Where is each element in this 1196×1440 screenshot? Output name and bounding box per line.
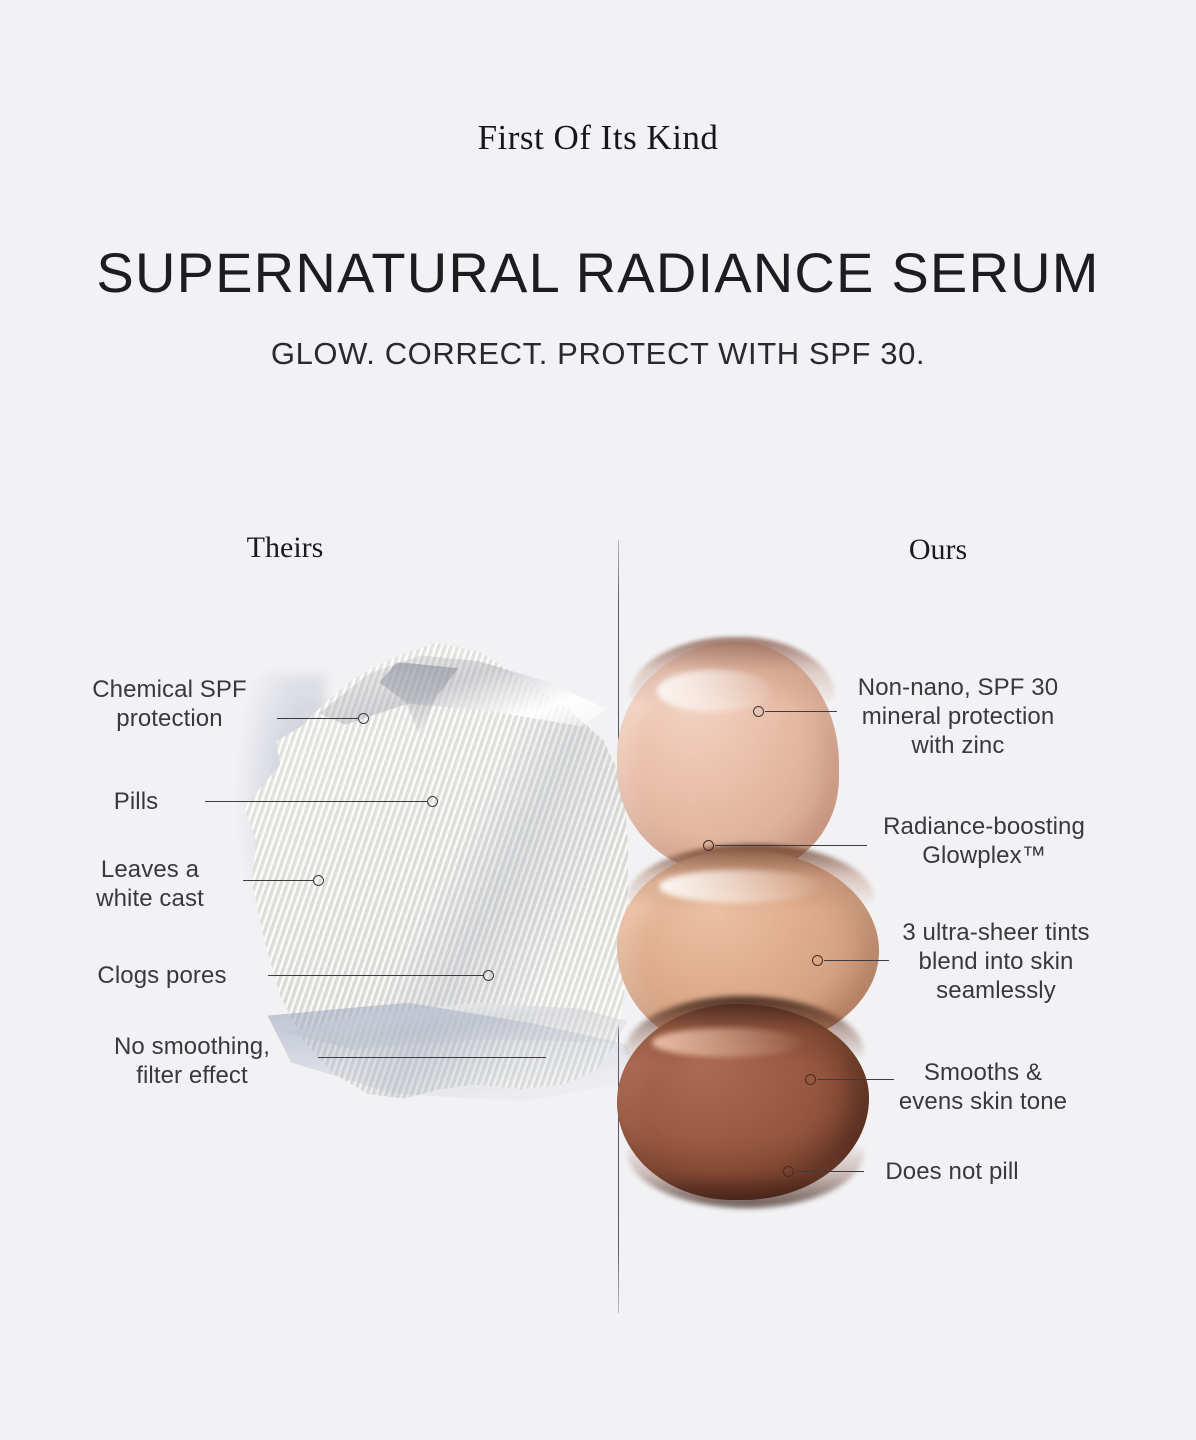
leader-line-clogs-pores (268, 975, 484, 976)
leader-node-clogs-pores (483, 970, 494, 981)
leader-line-white-cast (243, 880, 314, 881)
page-subtitle: GLOW. CORRECT. PROTECT WITH SPF 30. (0, 336, 1196, 372)
callout-label-smooths: Smooths &evens skin tone (878, 1058, 1088, 1116)
callout-label-no-smoothing: No smoothing,filter effect (82, 1032, 302, 1090)
callout-label-no-pill: Does not pill (872, 1157, 1032, 1186)
leader-node-glowplex (703, 840, 714, 851)
column-caption-theirs: Theirs (205, 531, 365, 565)
leader-node-chemical-spf (358, 713, 369, 724)
leader-line-glowplex (715, 845, 867, 846)
callout-label-mineral-spf: Non-nano, SPF 30mineral protectionwith z… (840, 673, 1076, 760)
leader-line-chemical-spf (277, 718, 359, 719)
eyebrow-text: First Of Its Kind (0, 118, 1196, 158)
leader-node-white-cast (313, 875, 324, 886)
leader-line-no-smoothing (318, 1057, 546, 1058)
leader-node-sheer-tints (812, 955, 823, 966)
leader-node-pills (427, 796, 438, 807)
page-title: SUPERNATURAL RADIANCE SERUM (0, 240, 1196, 305)
leader-line-mineral-spf (765, 711, 837, 712)
leader-node-smooths (805, 1074, 816, 1085)
leader-line-sheer-tints (824, 960, 889, 961)
callout-label-pills: Pills (72, 787, 200, 816)
leader-line-no-pill (795, 1171, 864, 1172)
leader-line-pills (205, 801, 428, 802)
callout-label-glowplex: Radiance-boostingGlowplex™ (868, 812, 1100, 870)
callout-label-sheer-tints: 3 ultra-sheer tintsblend into skinseamle… (890, 918, 1102, 1005)
callout-label-white-cast: Leaves awhite cast (62, 855, 238, 913)
leader-node-no-pill (783, 1166, 794, 1177)
leader-node-mineral-spf (753, 706, 764, 717)
product-comparison-infographic: First Of Its Kind SUPERNATURAL RADIANCE … (0, 0, 1196, 1440)
callout-label-clogs-pores: Clogs pores (62, 961, 262, 990)
callout-label-chemical-spf: Chemical SPFprotection (72, 675, 267, 733)
light-tint-swatch (617, 642, 839, 874)
column-caption-ours: Ours (858, 533, 1018, 567)
